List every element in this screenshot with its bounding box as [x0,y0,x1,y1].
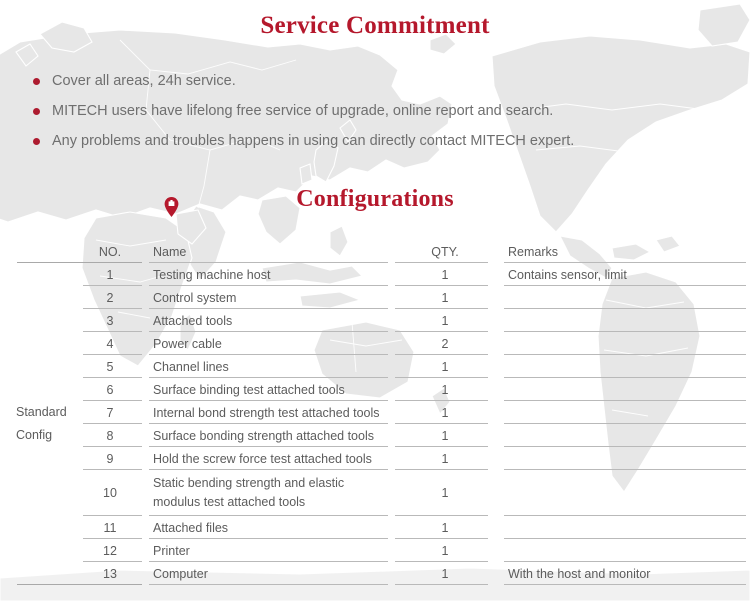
group-label-standard: Standard [0,401,75,424]
table-row: 3 Attached tools 1 [0,309,750,332]
cell-no: 6 [75,378,145,401]
cell-remarks [500,355,750,378]
group-cell [0,470,75,516]
table-row: Standard 7 Internal bond strength test a… [0,401,750,424]
configurations-table: NO. Name QTY. Remarks 1 Testing machine … [0,240,750,585]
group-label-line2: Config [16,426,52,445]
cell-name: Hold the screw force test attached tools [145,447,390,470]
table-row: 13 Computer 1 With the host and monitor [0,562,750,585]
cell-name: Attached tools [145,309,390,332]
cell-name-line2: modulus test attached tools [153,493,390,512]
service-commitment-title: Service Commitment [0,11,750,41]
table-row: 9 Hold the screw force test attached too… [0,447,750,470]
table-row: 5 Channel lines 1 [0,355,750,378]
cell-name: Attached files [145,516,390,539]
group-label-line1: Standard [16,403,67,422]
group-cell [0,516,75,539]
cell-no: 9 [75,447,145,470]
cell-name: Channel lines [145,355,390,378]
cell-no: 11 [75,516,145,539]
cell-name: Static bending strength and elastic modu… [145,470,390,516]
cell-name: Computer [145,562,390,585]
table-row: 10 Static bending strength and elastic m… [0,470,750,516]
list-item-label: Cover all areas, 24h service. [52,72,236,90]
table-header-row: NO. Name QTY. Remarks [0,240,750,263]
group-cell [0,539,75,562]
cell-remarks [500,424,750,447]
cell-remarks [500,539,750,562]
cell-name: Surface binding test attached tools [145,378,390,401]
cell-remarks [500,401,750,424]
cell-no: 13 [75,562,145,585]
cell-qty: 1 [390,562,500,585]
group-cell [0,332,75,355]
cell-qty: 2 [390,332,500,355]
table-row: 1 Testing machine host 1 Contains sensor… [0,263,750,286]
group-cell [0,309,75,332]
cell-remarks [500,332,750,355]
column-header-remarks: Remarks [500,240,750,263]
group-cell [0,447,75,470]
cell-qty: 1 [390,516,500,539]
cell-no: 12 [75,539,145,562]
column-header-no: NO. [75,240,145,263]
group-cell [0,286,75,309]
cell-remarks: Contains sensor, limit [500,263,750,286]
table-row: 4 Power cable 2 [0,332,750,355]
cell-remarks [500,309,750,332]
group-cell [0,355,75,378]
bullet-dot-icon [33,78,40,85]
cell-qty: 1 [390,424,500,447]
cell-no: 8 [75,424,145,447]
table-row: Config 8 Surface bonding strength attach… [0,424,750,447]
cell-qty: 1 [390,309,500,332]
group-cell [0,562,75,585]
cell-remarks [500,447,750,470]
cell-no: 7 [75,401,145,424]
cell-remarks [500,516,750,539]
table-row: 12 Printer 1 [0,539,750,562]
list-item: MITECH users have lifelong free service … [33,96,733,126]
cell-qty: 1 [390,263,500,286]
cell-qty: 1 [390,539,500,562]
cell-remarks [500,378,750,401]
cell-name: Surface bonding strength attached tools [145,424,390,447]
map-pin-icon [164,197,179,217]
column-header-name: Name [145,240,390,263]
cell-name: Control system [145,286,390,309]
cell-remarks [500,470,750,516]
list-item-label: MITECH users have lifelong free service … [52,102,553,120]
cell-no: 10 [75,470,145,516]
cell-no: 4 [75,332,145,355]
cell-qty: 1 [390,378,500,401]
configurations-title: Configurations [0,185,750,214]
table-row: 6 Surface binding test attached tools 1 [0,378,750,401]
list-item: Cover all areas, 24h service. [33,66,733,96]
cell-name: Internal bond strength test attached too… [145,401,390,424]
cell-qty: 1 [390,286,500,309]
service-commitment-list: Cover all areas, 24h service. MITECH use… [33,66,733,156]
group-label-config: Config [0,424,75,447]
cell-name: Testing machine host [145,263,390,286]
bullet-dot-icon [33,138,40,145]
cell-remarks [500,286,750,309]
cell-qty: 1 [390,355,500,378]
cell-qty: 1 [390,447,500,470]
cell-name: Power cable [145,332,390,355]
cell-no: 3 [75,309,145,332]
column-header-qty: QTY. [390,240,500,263]
cell-qty: 1 [390,401,500,424]
table-row: 2 Control system 1 [0,286,750,309]
list-item: Any problems and troubles happens in usi… [33,126,733,156]
cell-name: Printer [145,539,390,562]
group-cell [0,263,75,286]
group-cell [0,378,75,401]
header-spacer [0,240,75,263]
cell-qty: 1 [390,470,500,516]
bullet-dot-icon [33,108,40,115]
cell-no: 2 [75,286,145,309]
cell-remarks: With the host and monitor [500,562,750,585]
list-item-label: Any problems and troubles happens in usi… [52,132,574,150]
cell-name-line1: Static bending strength and elastic [153,474,390,493]
table-row: 11 Attached files 1 [0,516,750,539]
cell-no: 5 [75,355,145,378]
cell-no: 1 [75,263,145,286]
